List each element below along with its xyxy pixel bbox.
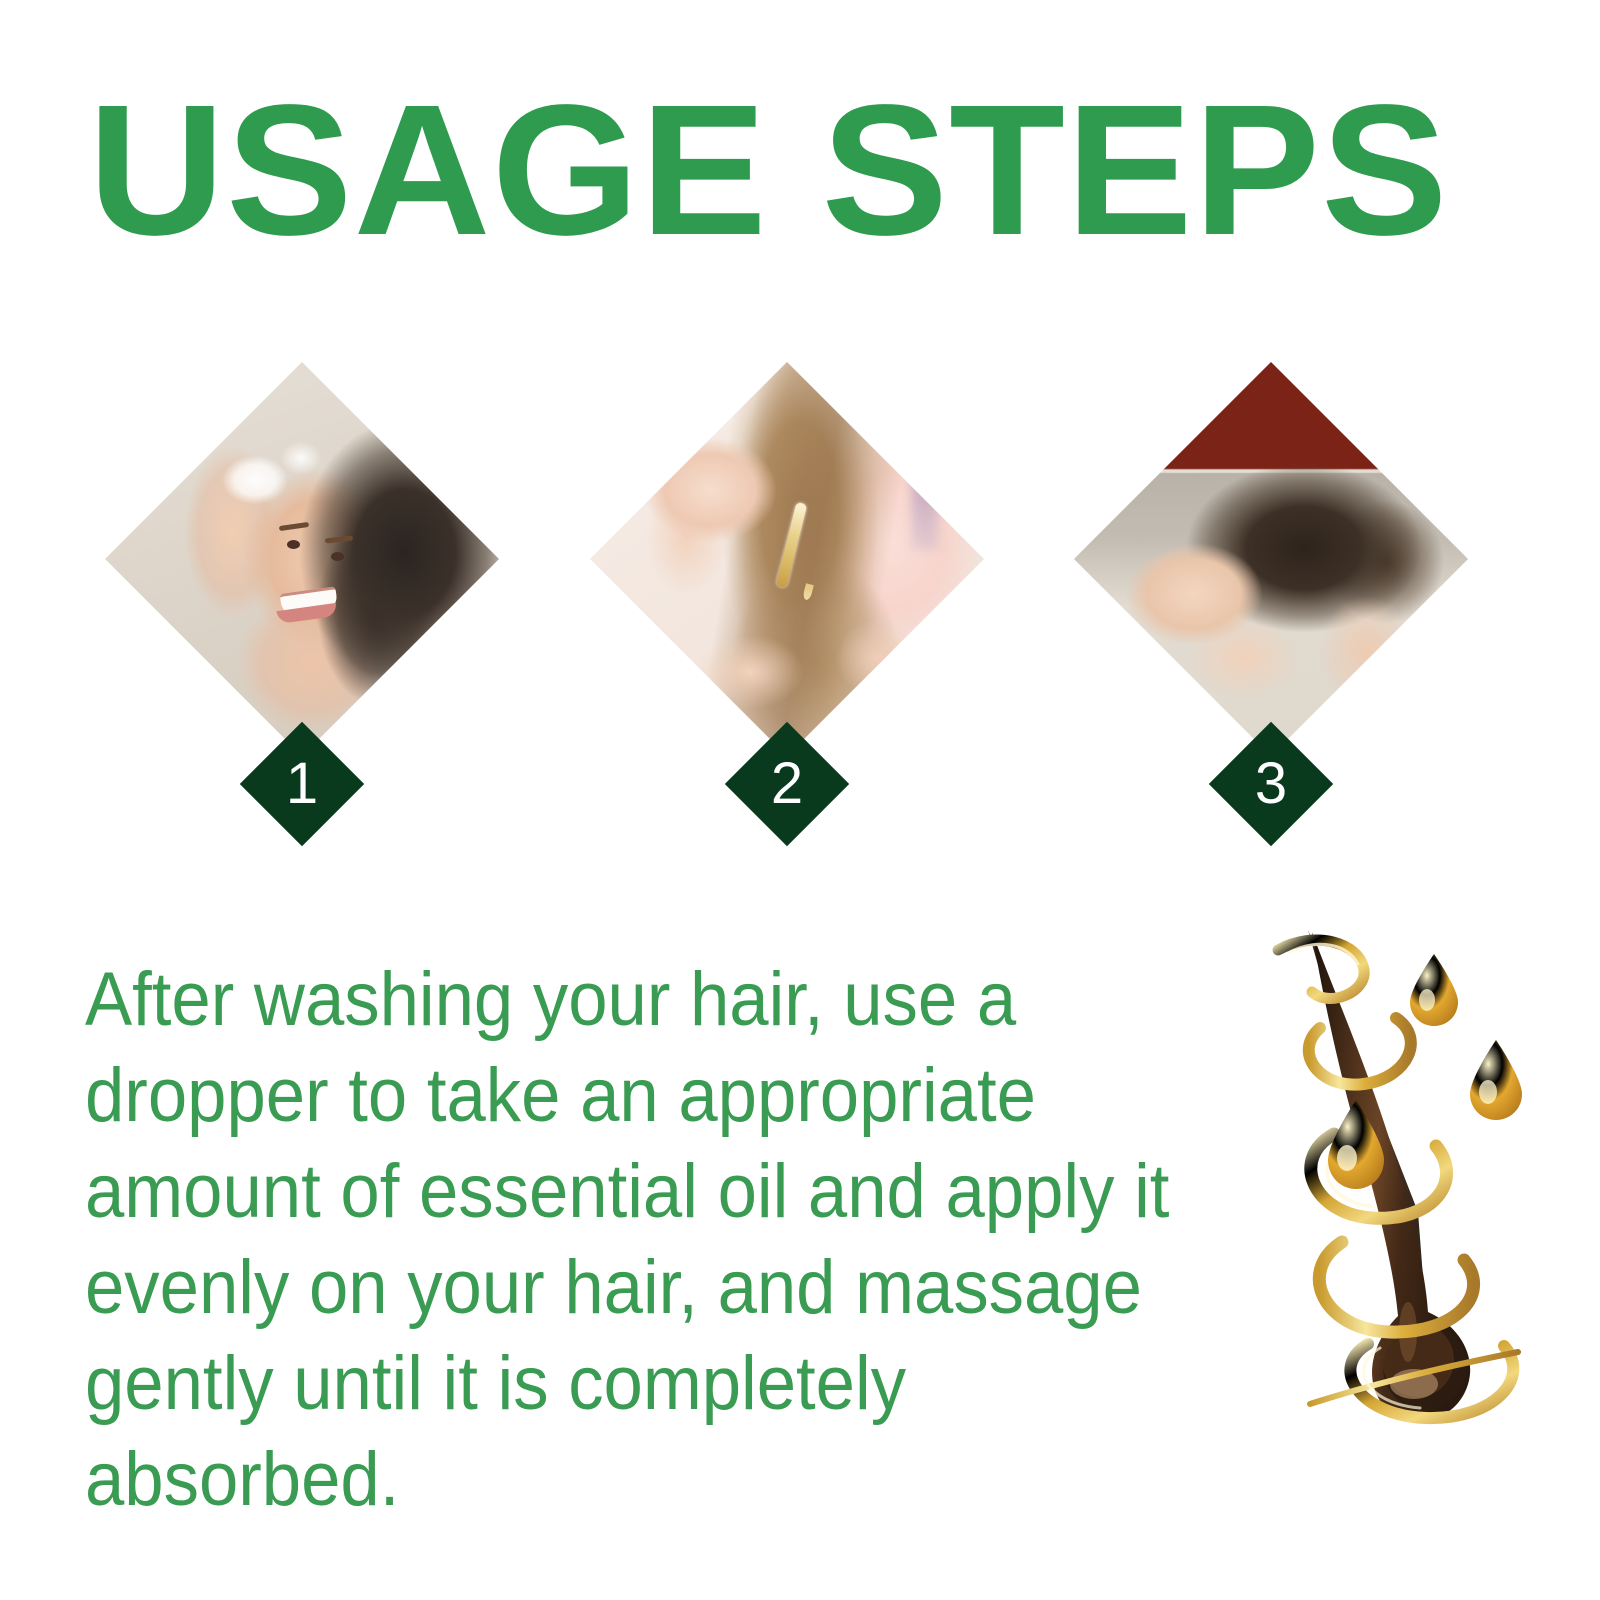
usage-steps-row: 1 2 3 xyxy=(0,362,1600,832)
usage-instructions-text: After washing your hair, use a dropper t… xyxy=(85,952,1192,1528)
step-1-diamond-photo-frame xyxy=(105,362,499,756)
eyebrow-right-detail xyxy=(325,536,353,544)
oil-drop-with-gold-spiral-graphic xyxy=(1268,912,1558,1452)
eye-left-detail xyxy=(287,540,300,549)
hand-applying-oil-dropper-to-hair-photo xyxy=(590,362,984,756)
eyebrow-left-detail xyxy=(279,522,309,531)
eye-right-detail xyxy=(331,552,344,561)
usage-step-2: 2 xyxy=(590,362,984,832)
woman-washing-hair-in-shower-photo xyxy=(105,362,499,756)
step-3-number-label: 3 xyxy=(1227,740,1315,828)
usage-step-3: 3 xyxy=(1074,362,1468,832)
step-2-number-label: 2 xyxy=(743,740,831,828)
step-1-number-label: 1 xyxy=(258,740,346,828)
hands-massaging-scalp-photo xyxy=(1074,362,1468,756)
step-2-diamond-photo-frame xyxy=(590,362,984,756)
oil-droplet-2 xyxy=(1470,1040,1522,1120)
step-3-diamond-photo-frame xyxy=(1074,362,1468,756)
dropper-tip-detail xyxy=(802,583,814,600)
background-blur-detail xyxy=(912,472,938,550)
oil-droplet-1 xyxy=(1410,954,1458,1026)
dropper-pipette-icon xyxy=(776,502,807,588)
page-title: USAGE STEPS xyxy=(88,78,1540,263)
usage-step-1: 1 xyxy=(105,362,499,832)
